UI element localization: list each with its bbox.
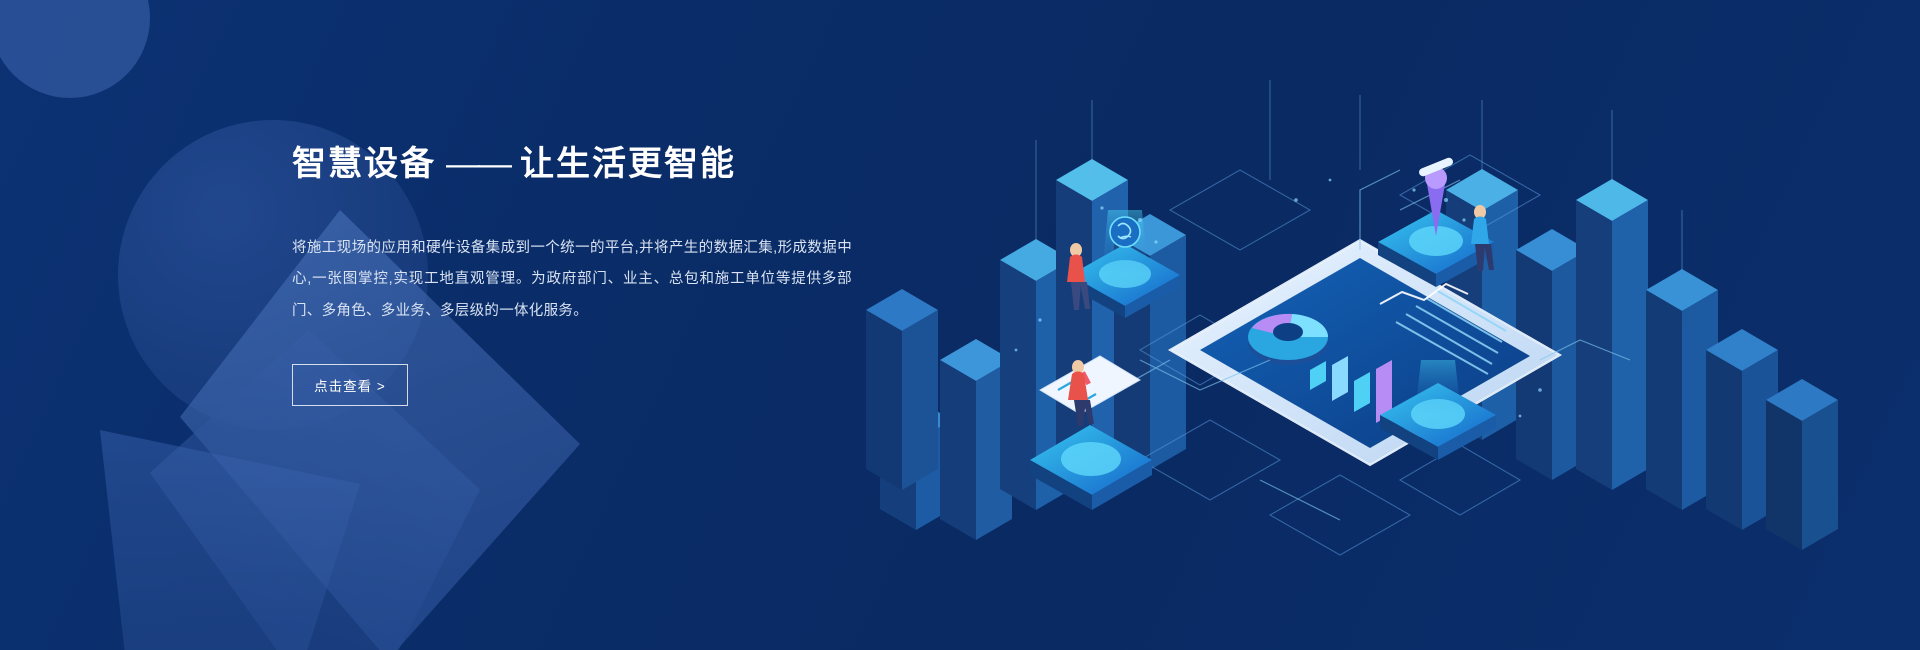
decor-polygon-c <box>100 430 360 650</box>
hero-banner: 智慧设备——让生活更智能 将施工现场的应用和硬件设备集成到一个统一的平台,并将产… <box>0 0 1920 650</box>
tower <box>1766 379 1838 550</box>
page-title: 智慧设备——让生活更智能 <box>292 143 852 186</box>
title-left-text: 智慧设备 <box>292 145 436 183</box>
tower <box>1576 179 1648 490</box>
view-details-button[interactable]: 点击查看 > <box>292 364 408 406</box>
title-right-text: 让生活更智能 <box>520 145 736 183</box>
hero-description: 将施工现场的应用和硬件设备集成到一个统一的平台,并将产生的数据汇集,形成数据中心… <box>292 233 852 329</box>
decor-circle-top <box>0 0 150 98</box>
title-dash: —— <box>436 145 520 183</box>
hero-content: 智慧设备——让生活更智能 将施工现场的应用和硬件设备集成到一个统一的平台,并将产… <box>292 143 852 406</box>
tower <box>866 289 938 490</box>
hero-illustration <box>840 60 1920 620</box>
pie-chart <box>1248 314 1328 365</box>
